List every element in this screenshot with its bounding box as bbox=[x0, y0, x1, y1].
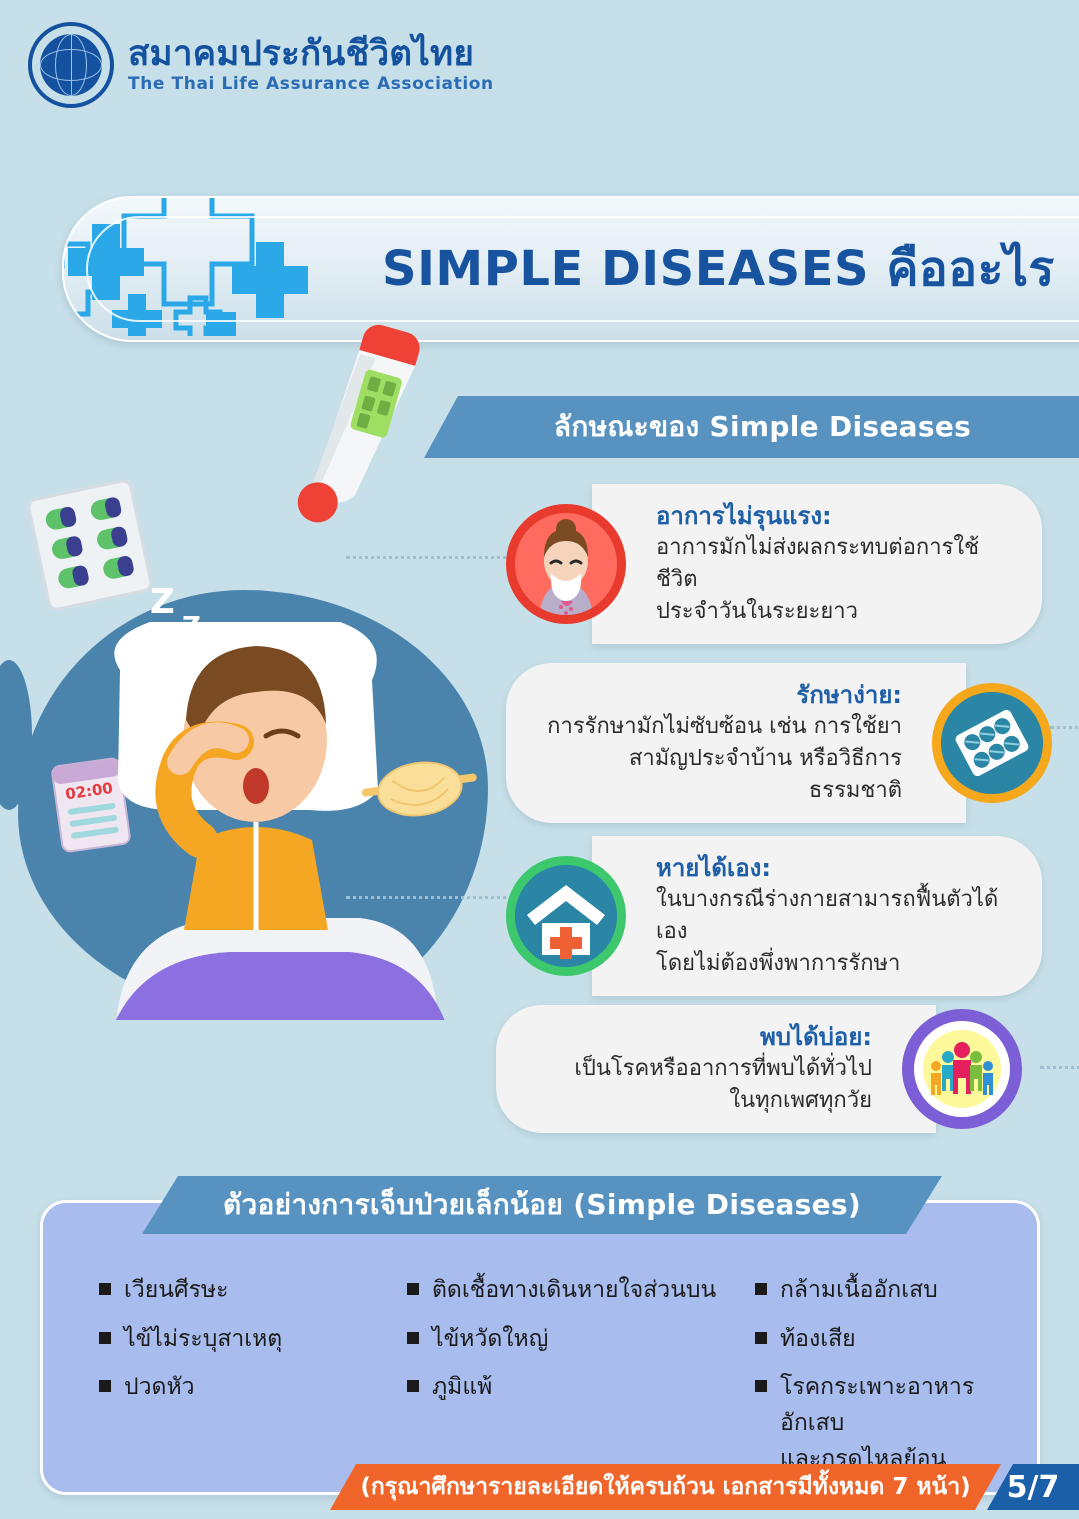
list-item-label: เวียนศีรษะ bbox=[124, 1273, 228, 1309]
globe-wreath-logo-icon bbox=[28, 22, 114, 108]
connector-dots bbox=[346, 896, 526, 899]
page-indicator: 5/7 bbox=[987, 1464, 1079, 1510]
org-name-th: สมาคมประกันชีวิตไทย bbox=[128, 36, 494, 73]
feature-title: รักษาง่าย: bbox=[536, 679, 902, 711]
bullet-square-icon bbox=[755, 1380, 767, 1392]
list-item-label: กล้ามเนื้ออักเสบ bbox=[780, 1273, 938, 1309]
examples-section-heading: ตัวอย่างการเจ็บป่วยเล็กน้อย (Simple Dise… bbox=[142, 1176, 942, 1234]
list-item: ติดเชื้อทางเดินหายใจส่วนบน bbox=[407, 1273, 737, 1309]
feature-bubble: หายได้เอง: ในบางกรณีร่างกายสามารถฟื้นตัว… bbox=[592, 836, 1042, 996]
feature-bubble: พบได้บ่อย: เป็นโรคหรืออาการที่พบได้ทั่วไ… bbox=[496, 1005, 936, 1133]
list-item: โรคกระเพาะอาหารอักเสบ และกรดไหลย้อน bbox=[755, 1370, 981, 1477]
home-with-cross-icon bbox=[506, 856, 626, 976]
feature-title: หายได้เอง: bbox=[656, 852, 1012, 884]
feature-body-line2: ในทุกเพศทุกวัย bbox=[526, 1085, 872, 1117]
connector-dots bbox=[1050, 726, 1079, 729]
list-item-label: ปวดหัว bbox=[124, 1370, 195, 1406]
examples-column-1: เวียนศีรษะ ไข้ไม่ระบุสาเหตุ ปวดหัว bbox=[99, 1273, 389, 1490]
list-item: ท้องเสีย bbox=[755, 1322, 981, 1358]
examples-columns: เวียนศีรษะ ไข้ไม่ระบุสาเหตุ ปวดหัว ติดเช… bbox=[43, 1273, 1037, 1490]
list-item-label: ภูมิแพ้ bbox=[432, 1370, 492, 1406]
feature-card-easy-treatment[interactable]: รักษาง่าย: การรักษามักไม่ซับซ้อน เช่น กา… bbox=[506, 663, 1052, 823]
feature-card-mild-symptoms[interactable]: อาการไม่รุนแรง: อาการมักไม่ส่งผลกระทบต่อ… bbox=[506, 484, 1042, 644]
bullet-square-icon bbox=[407, 1283, 419, 1295]
brand-text: สมาคมประกันชีวิตไทย The Thai Life Assura… bbox=[128, 36, 494, 94]
feature-body-line2: ประจำวันในระยะยาว bbox=[656, 596, 1012, 628]
feature-title: อาการไม่รุนแรง: bbox=[656, 500, 1012, 532]
list-item-label: ท้องเสีย bbox=[780, 1322, 856, 1358]
list-item: ภูมิแพ้ bbox=[407, 1370, 737, 1406]
list-item-label-multiline: โรคกระเพาะอาหารอักเสบ และกรดไหลย้อน bbox=[780, 1370, 981, 1477]
org-name-en: The Thai Life Assurance Association bbox=[128, 76, 494, 94]
family-group-icon bbox=[902, 1009, 1022, 1129]
connector-dots bbox=[346, 556, 526, 559]
feature-bubble: อาการไม่รุนแรง: อาการมักไม่ส่งผลกระทบต่อ… bbox=[592, 484, 1042, 644]
title-banner: SIMPLE DISEASES คืออะไร bbox=[62, 196, 1079, 342]
list-item-label: โรคกระเพาะอาหารอักเสบ bbox=[780, 1374, 974, 1436]
list-item-label: ไข้หวัดใหญ่ bbox=[432, 1322, 548, 1358]
bullet-square-icon bbox=[755, 1332, 767, 1344]
bullet-square-icon bbox=[99, 1380, 111, 1392]
bullet-square-icon bbox=[407, 1332, 419, 1344]
list-item: ไข้ไม่ระบุสาเหตุ bbox=[99, 1322, 389, 1358]
list-item: ไข้หวัดใหญ่ bbox=[407, 1322, 737, 1358]
sick-woman-sneezing-icon bbox=[506, 504, 626, 624]
brand-header: สมาคมประกันชีวิตไทย The Thai Life Assura… bbox=[28, 22, 494, 108]
examples-column-3: กล้ามเนื้ออักเสบ ท้องเสีย โรคกระเพาะอาหา… bbox=[755, 1273, 981, 1490]
bullet-square-icon bbox=[755, 1283, 767, 1295]
bullet-square-icon bbox=[99, 1332, 111, 1344]
bullet-square-icon bbox=[407, 1380, 419, 1392]
feature-title: พบได้บ่อย: bbox=[526, 1021, 872, 1053]
pill-blister-pack-icon bbox=[932, 683, 1052, 803]
feature-body-line1: อาการมักไม่ส่งผลกระทบต่อการใช้ชีวิต bbox=[656, 532, 1012, 596]
features-section-heading: ลักษณะของ Simple Diseases bbox=[424, 396, 1079, 458]
list-item: ปวดหัว bbox=[99, 1370, 389, 1406]
examples-column-2: ติดเชื้อทางเดินหายใจส่วนบน ไข้หวัดใหญ่ ภ… bbox=[407, 1273, 737, 1490]
feature-body-line2: สามัญประจำบ้าน หรือวิธีการธรรมชาติ bbox=[536, 743, 902, 807]
footer-note: (กรุณาศึกษารายละเอียดให้ครบถ้วน เอกสารมี… bbox=[330, 1464, 1001, 1510]
pill-blister-pack-icon bbox=[18, 468, 172, 622]
list-item: กล้ามเนื้ออักเสบ bbox=[755, 1273, 981, 1309]
feature-body-line1: เป็นโรคหรืออาการที่พบได้ทั่วไป bbox=[526, 1053, 872, 1085]
feature-card-common[interactable]: พบได้บ่อย: เป็นโรคหรืออาการที่พบได้ทั่วไ… bbox=[496, 1005, 1022, 1133]
feature-bubble: รักษาง่าย: การรักษามักไม่ซับซ้อน เช่น กา… bbox=[506, 663, 966, 823]
connector-dots bbox=[1040, 1066, 1079, 1069]
page-title: SIMPLE DISEASES คืออะไร bbox=[382, 231, 1055, 307]
feature-body-line2: โดยไม่ต้องพึ่งพาการรักษา bbox=[656, 948, 1012, 980]
examples-panel: เวียนศีรษะ ไข้ไม่ระบุสาเหตุ ปวดหัว ติดเช… bbox=[40, 1200, 1040, 1495]
list-item-label: ไข้ไม่ระบุสาเหตุ bbox=[124, 1322, 282, 1358]
feature-body-line1: การรักษามักไม่ซับซ้อน เช่น การใช้ยา bbox=[536, 711, 902, 743]
feature-card-self-recovery[interactable]: หายได้เอง: ในบางกรณีร่างกายสามารถฟื้นตัว… bbox=[506, 836, 1042, 996]
list-item: เวียนศีรษะ bbox=[99, 1273, 389, 1309]
bullet-square-icon bbox=[99, 1283, 111, 1295]
medical-cross-decor-icon bbox=[62, 196, 324, 336]
list-item-label: ติดเชื้อทางเดินหายใจส่วนบน bbox=[432, 1273, 716, 1309]
footer-bar: (กรุณาศึกษารายละเอียดให้ครบถ้วน เอกสารมี… bbox=[330, 1464, 1079, 1510]
feature-body-line1: ในบางกรณีร่างกายสามารถฟื้นตัวได้เอง bbox=[656, 884, 1012, 948]
